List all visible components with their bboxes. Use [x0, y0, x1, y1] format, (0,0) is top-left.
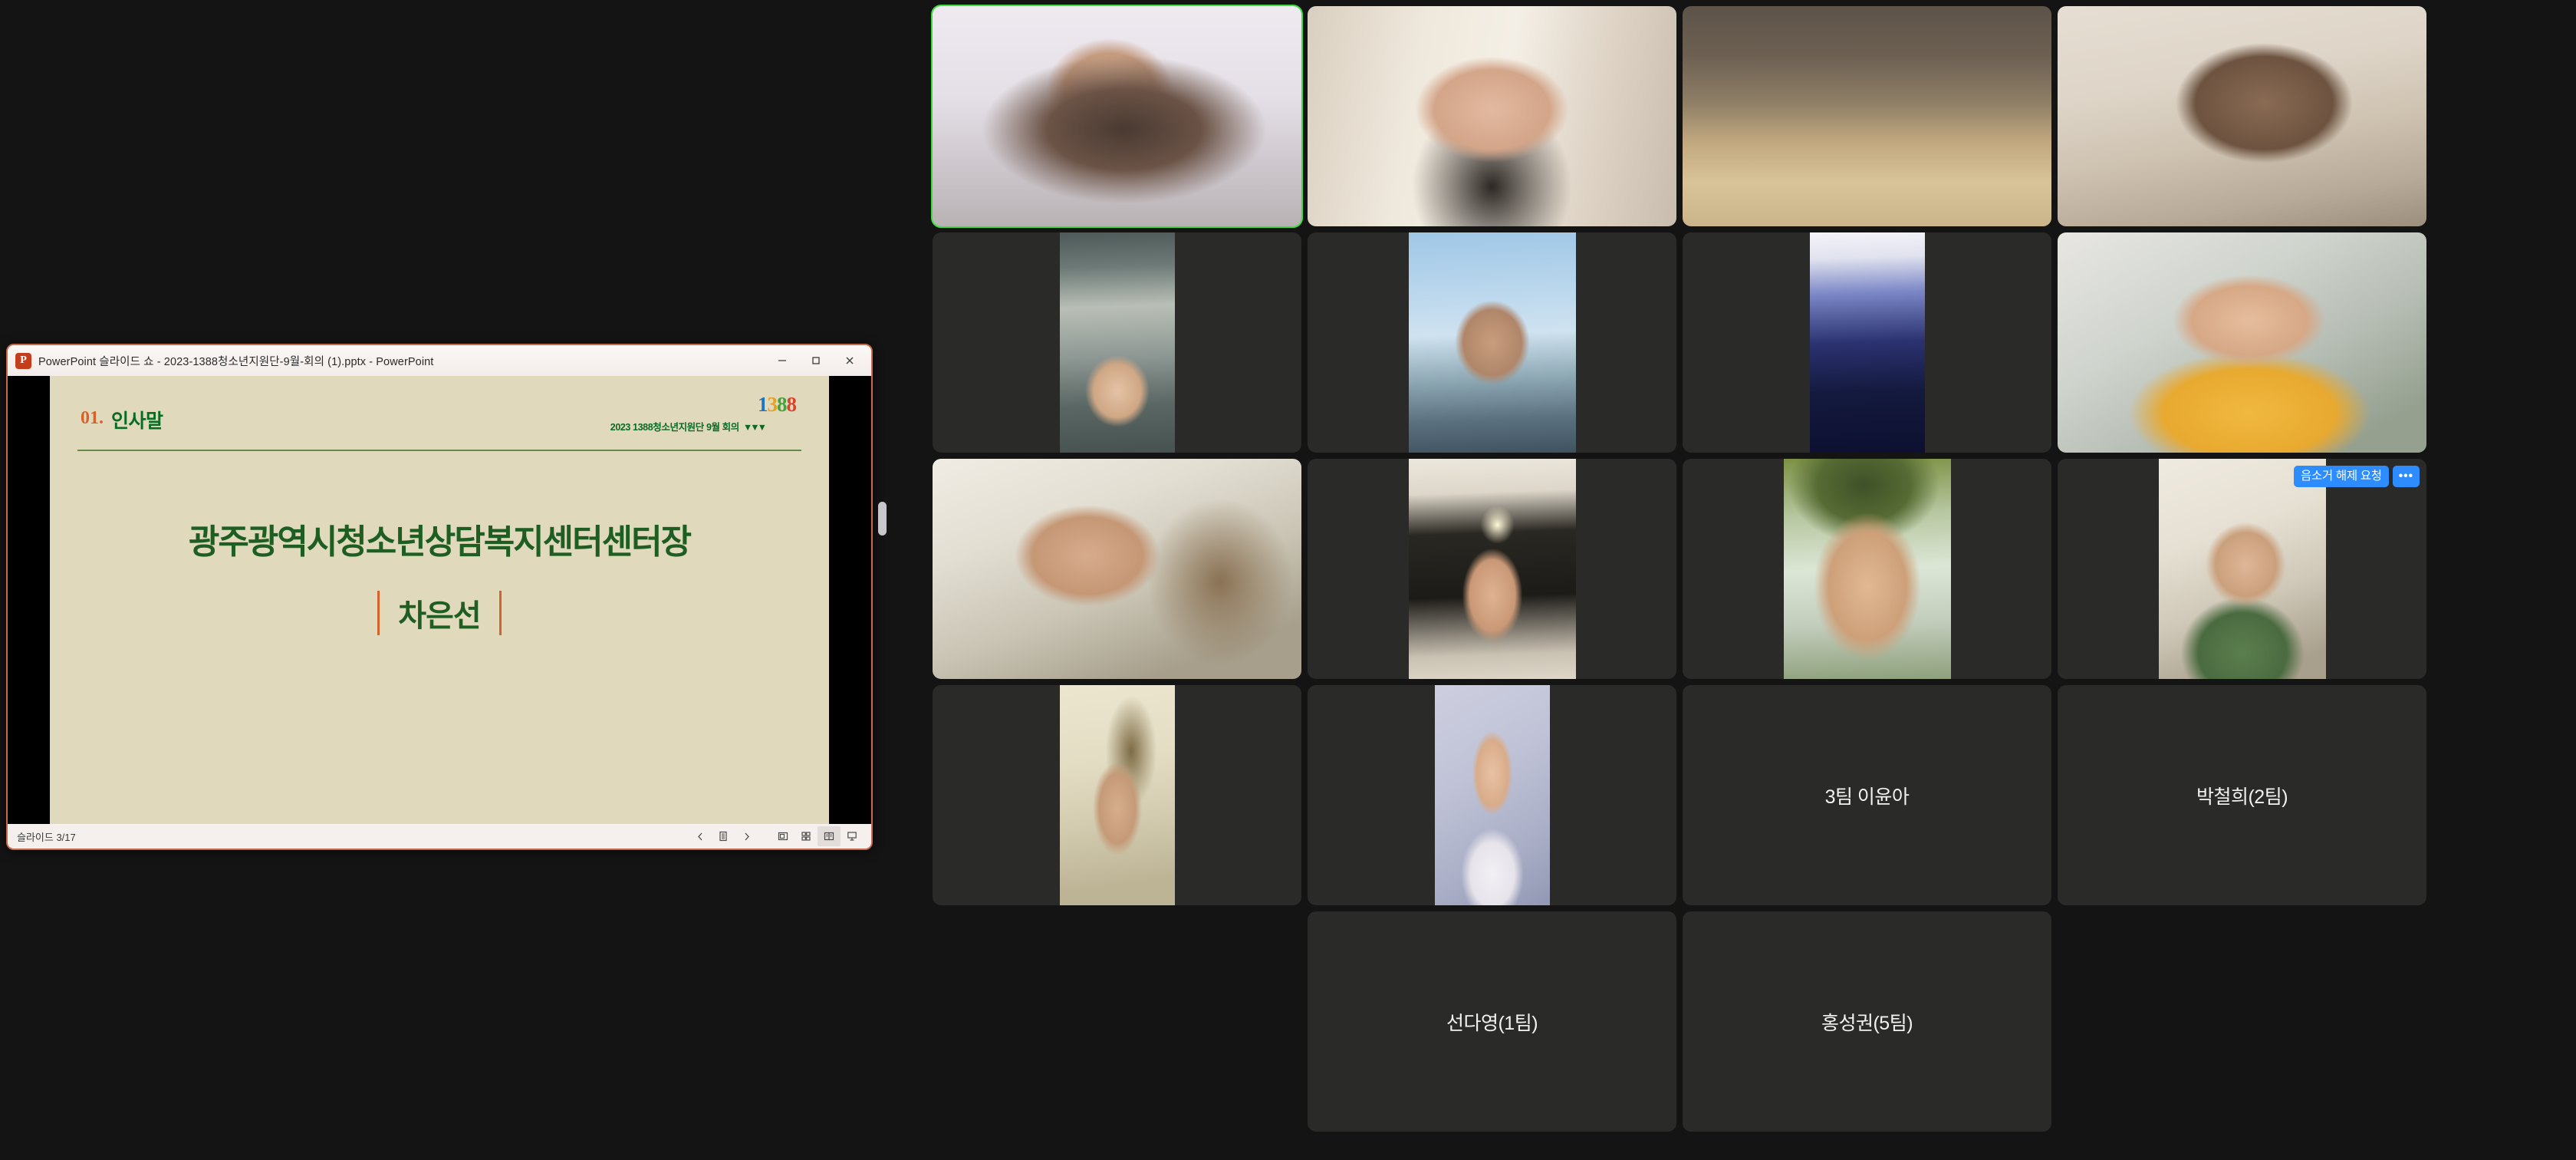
video-frame [1683, 6, 2051, 226]
video-frame [2159, 459, 2326, 679]
tile-overlay-controls: 음소거 해제 요청••• [2294, 466, 2420, 487]
participant-tile[interactable] [1308, 459, 1676, 679]
reading-view-button[interactable] [818, 826, 841, 846]
slide-divider [77, 450, 801, 451]
participant-tile[interactable] [2058, 6, 2426, 226]
video-frame [2058, 232, 2426, 453]
video-frame [933, 6, 1301, 226]
participant-video [1683, 232, 2051, 453]
notes-icon[interactable] [712, 826, 735, 846]
participant-tile[interactable]: 선다영(1팀) [1308, 911, 1676, 1132]
powerpoint-window[interactable]: P PowerPoint 슬라이드 쇼 - 2023-1388청소년지원단-9월… [6, 344, 873, 850]
more-options-button[interactable]: ••• [2393, 466, 2420, 487]
participant-tile[interactable]: 음소거 해제 요청••• [2058, 459, 2426, 679]
participant-video [933, 232, 1301, 453]
slide-meta-text: 2023 1388청소년지원단 9월 회의▼▼▼ [610, 419, 765, 433]
decorative-bar-right [499, 591, 502, 635]
participant-tile[interactable] [2058, 232, 2426, 453]
participant-tile[interactable] [933, 232, 1301, 453]
participant-video [2058, 459, 2426, 679]
next-slide-button[interactable] [735, 826, 758, 846]
logo-digit-8b: 8 [787, 393, 797, 417]
participant-tile[interactable] [1308, 685, 1676, 905]
decorative-bar-left [377, 591, 380, 635]
video-frame [1784, 459, 1951, 679]
participant-tile[interactable] [1308, 6, 1676, 226]
participant-video [1683, 6, 2051, 226]
slide-meta-label: 2023 1388청소년지원단 9월 회의 [610, 422, 739, 433]
logo-digit-8a: 8 [777, 393, 787, 417]
powerpoint-window-title: PowerPoint 슬라이드 쇼 - 2023-1388청소년지원단-9월-회… [38, 353, 765, 369]
participant-tile[interactable] [933, 6, 1301, 226]
slide-section-heading: 인사말 [111, 406, 163, 433]
slide-counter: 슬라이드 3/17 [17, 829, 689, 844]
video-frame [2058, 6, 2426, 226]
participant-tile[interactable] [1683, 459, 2051, 679]
minimize-button[interactable] [765, 348, 799, 373]
participant-name: 선다영(1팀) [1308, 1008, 1676, 1036]
participant-video [1308, 6, 1676, 226]
slide-body: 광주광역시청소년상담복지센터센터장 차은선 [50, 514, 829, 635]
participant-tile[interactable] [933, 685, 1301, 905]
powerpoint-app-icon: P [15, 353, 31, 369]
scrollbar-thumb[interactable] [878, 502, 887, 536]
slide-section-number: 01. [81, 408, 104, 429]
video-frame [1409, 232, 1576, 453]
slide-canvas: 01. 인사말 2023 1388청소년지원단 9월 회의▼▼▼ 1388 광주… [50, 376, 829, 824]
participant-video [933, 685, 1301, 905]
participant-name: 박철희(2팀) [2058, 782, 2426, 809]
slideshow-view-button[interactable] [841, 826, 864, 846]
participant-tile[interactable]: 3팀 이윤아 [1683, 685, 2051, 905]
video-frame [1308, 6, 1676, 226]
participant-video [1308, 232, 1676, 453]
logo-digit-3: 3 [768, 393, 778, 417]
participant-name: 홍성권(5팀) [1683, 1008, 2051, 1036]
unmute-request-button[interactable]: 음소거 해제 요청 [2294, 466, 2389, 487]
video-frame [933, 459, 1301, 679]
powerpoint-titlebar[interactable]: P PowerPoint 슬라이드 쇼 - 2023-1388청소년지원단-9월… [8, 345, 871, 376]
participant-video [2058, 232, 2426, 453]
participant-tile[interactable] [1683, 6, 2051, 226]
participant-tile[interactable] [933, 459, 1301, 679]
powerpoint-status-bar: 슬라이드 3/17 [8, 824, 871, 849]
logo-digit-1: 1 [758, 393, 768, 417]
participant-video [1683, 459, 2051, 679]
participant-video [2058, 6, 2426, 226]
previous-slide-button[interactable] [689, 826, 712, 846]
video-frame [1409, 459, 1576, 679]
participant-tile[interactable] [1308, 232, 1676, 453]
close-button[interactable] [833, 348, 867, 373]
slide-1388-logo: 1388 [752, 388, 801, 420]
participant-video [1308, 685, 1676, 905]
slide-body-line-1: 광주광역시청소년상담복지센터센터장 [50, 514, 829, 563]
participant-tile[interactable]: 박철희(2팀) [2058, 685, 2426, 905]
maximize-button[interactable] [799, 348, 833, 373]
slide-sorter-view-button[interactable] [795, 826, 818, 846]
participant-video [933, 6, 1301, 226]
slideshow-viewport[interactable]: 01. 인사말 2023 1388청소년지원단 9월 회의▼▼▼ 1388 광주… [8, 376, 871, 824]
video-frame [1435, 685, 1550, 905]
video-frame [1060, 685, 1175, 905]
slide-body-line-2: 차은선 [398, 591, 480, 635]
video-frame [1060, 232, 1175, 453]
participant-video [1308, 459, 1676, 679]
slide-meta-chevrons: ▼▼▼ [743, 422, 765, 433]
participant-video [933, 459, 1301, 679]
participant-tile[interactable] [1683, 232, 2051, 453]
participant-name: 3팀 이윤아 [1683, 782, 2051, 809]
slideshow-scrollbar[interactable] [878, 344, 887, 850]
video-frame [1810, 232, 1925, 453]
slide-header: 01. 인사말 2023 1388청소년지원단 9월 회의▼▼▼ 1388 [50, 376, 829, 450]
participant-tile[interactable]: 홍성권(5팀) [1683, 911, 2051, 1132]
slide-body-line-2-group: 차은선 [50, 591, 829, 635]
screen-root: P PowerPoint 슬라이드 쇼 - 2023-1388청소년지원단-9월… [0, 0, 2576, 1160]
normal-view-button[interactable] [771, 826, 795, 846]
